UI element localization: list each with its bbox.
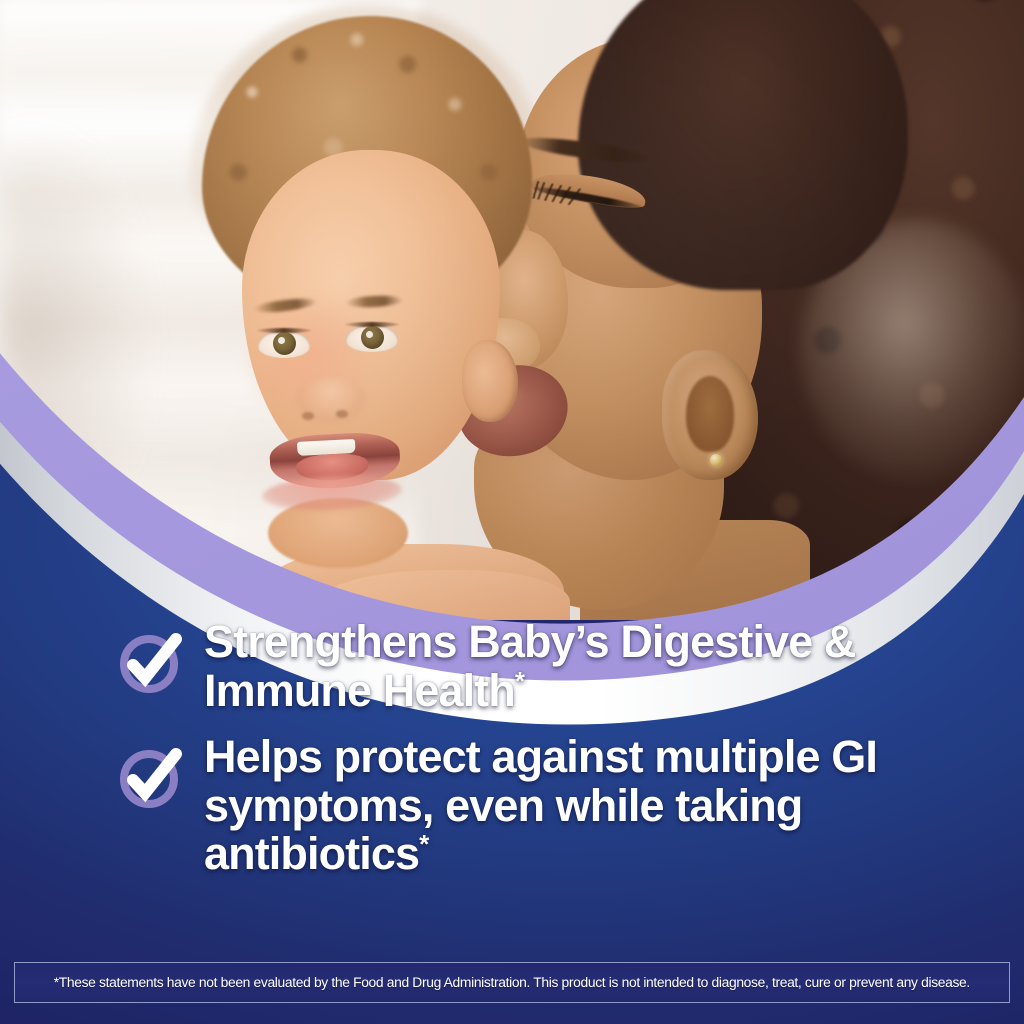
benefit-item-1: Strengthens Baby’s Digestive & Immune He… [0, 618, 1024, 715]
baby-lash-right [345, 322, 399, 327]
check-circle-icon [118, 745, 184, 811]
footnote-marker-2: * [419, 829, 428, 859]
hero-photo [0, 0, 1024, 620]
baby-nostril-right [336, 410, 348, 418]
baby-nostril-left [302, 412, 314, 420]
baby-ear [462, 340, 518, 422]
baby-iris-right [361, 326, 384, 349]
benefit-item-2: Helps protect against multiple GI sympto… [0, 733, 1024, 879]
disclaimer-text: *These statements have not been evaluate… [54, 975, 970, 991]
mother-earring [710, 454, 722, 466]
footnote-marker-1: * [515, 666, 524, 696]
baby-eye-left [258, 330, 310, 358]
benefit-text-1: Strengthens Baby’s Digestive & Immune He… [204, 616, 856, 716]
benefit-text-2: Helps protect against multiple GI sympto… [204, 731, 877, 879]
baby-figure [150, 10, 600, 620]
photo-background-shadow [0, 130, 150, 550]
product-benefits-banner: Strengthens Baby’s Digestive & Immune He… [0, 0, 1024, 1024]
benefits-list: Strengthens Baby’s Digestive & Immune He… [0, 618, 1024, 948]
disclaimer-box: *These statements have not been evaluate… [14, 962, 1010, 1003]
benefit-label-2: Helps protect against multiple GI sympto… [204, 733, 974, 879]
benefit-label-1: Strengthens Baby’s Digestive & Immune He… [204, 618, 974, 715]
mother-hair-front [578, 0, 908, 290]
mother-ear-inner [686, 376, 734, 452]
baby-eye-right [346, 324, 398, 352]
baby-lash-left [257, 328, 311, 333]
check-circle-icon [118, 630, 184, 696]
baby-iris-left [273, 332, 296, 355]
